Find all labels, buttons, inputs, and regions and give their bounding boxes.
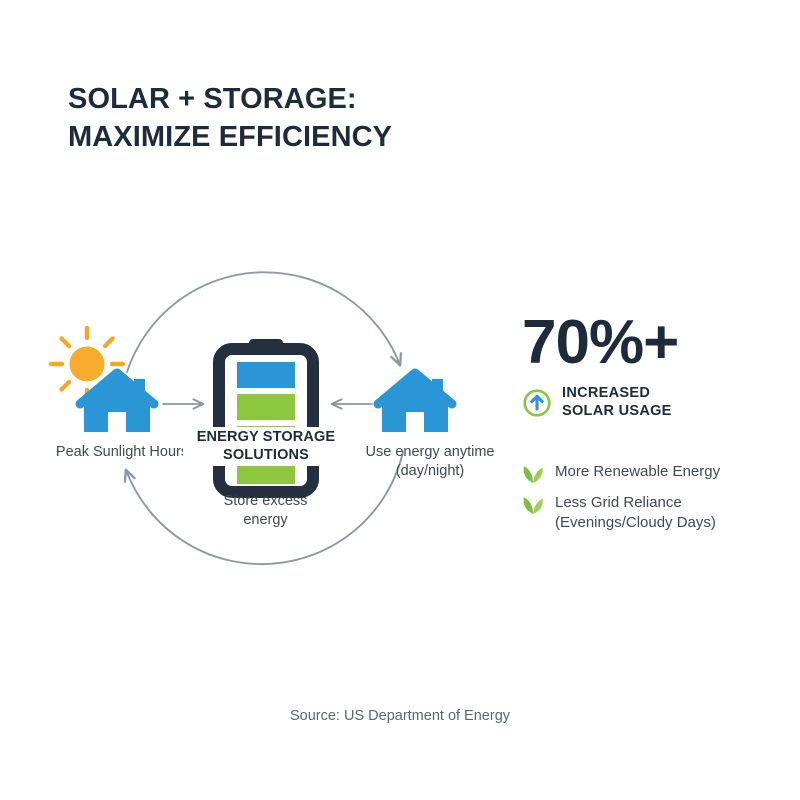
benefit-text-line-1: Less Grid Reliance <box>555 493 716 513</box>
leaf-icon <box>522 495 544 515</box>
page-title-line-1: SOLAR + STORAGE: <box>68 80 568 118</box>
stat-caption-row: INCREASED SOLAR USAGE <box>522 385 782 420</box>
stat-caption-line-1: INCREASED <box>562 385 672 403</box>
benefit-text-line-1: More Renewable Energy <box>555 462 720 482</box>
label-store-excess-line-1: Store excess <box>224 493 308 509</box>
label-energy-storage-solutions: ENERGY STORAGE SOLUTIONS <box>183 427 349 466</box>
battery-segment-2 <box>237 394 295 420</box>
benefit-item: More Renewable Energy <box>522 462 792 484</box>
sun-icon <box>51 328 123 400</box>
stat-value: 70%+ <box>522 312 782 374</box>
stat-block: 70%+ INCREASED SOLAR USAGE <box>522 312 782 420</box>
benefits-list: More Renewable Energy Less Grid Reliance… <box>522 462 792 542</box>
page-title-line-2: MAXIMIZE EFFICIENCY <box>68 118 568 156</box>
stat-caption-line-2: SOLAR USAGE <box>562 403 672 421</box>
stat-caption: INCREASED SOLAR USAGE <box>562 385 672 420</box>
benefit-text: Less Grid Reliance (Evenings/Cloudy Days… <box>555 493 716 533</box>
benefit-text: More Renewable Energy <box>555 462 720 482</box>
house-icon-left <box>80 373 154 432</box>
label-energy-storage-line-2: SOLUTIONS <box>223 447 309 463</box>
house-icon-right <box>378 373 452 432</box>
battery-segment-1 <box>237 362 295 388</box>
loop-top-arc <box>127 272 400 372</box>
battery-icon <box>219 339 313 492</box>
benefit-item: Less Grid Reliance (Evenings/Cloudy Days… <box>522 493 792 533</box>
infographic-canvas: SOLAR + STORAGE: MAXIMIZE EFFICIENCY <box>0 0 800 800</box>
benefit-text-line-2: (Evenings/Cloudy Days) <box>555 513 716 533</box>
page-title: SOLAR + STORAGE: MAXIMIZE EFFICIENCY <box>68 80 568 157</box>
label-energy-storage-line-1: ENERGY STORAGE <box>197 429 336 445</box>
arrow-up-circle-icon <box>522 388 552 418</box>
label-use-energy-line-1: Use energy anytime <box>366 444 495 460</box>
label-use-energy-line-2: (day/night) <box>396 463 465 479</box>
leaf-icon <box>522 464 544 484</box>
label-store-excess-line-2: energy <box>243 512 287 528</box>
label-store-excess-energy: Store excess energy <box>178 492 353 529</box>
label-use-energy: Use energy anytime (day/night) <box>330 443 530 480</box>
source-caption: Source: US Department of Energy <box>0 708 800 724</box>
